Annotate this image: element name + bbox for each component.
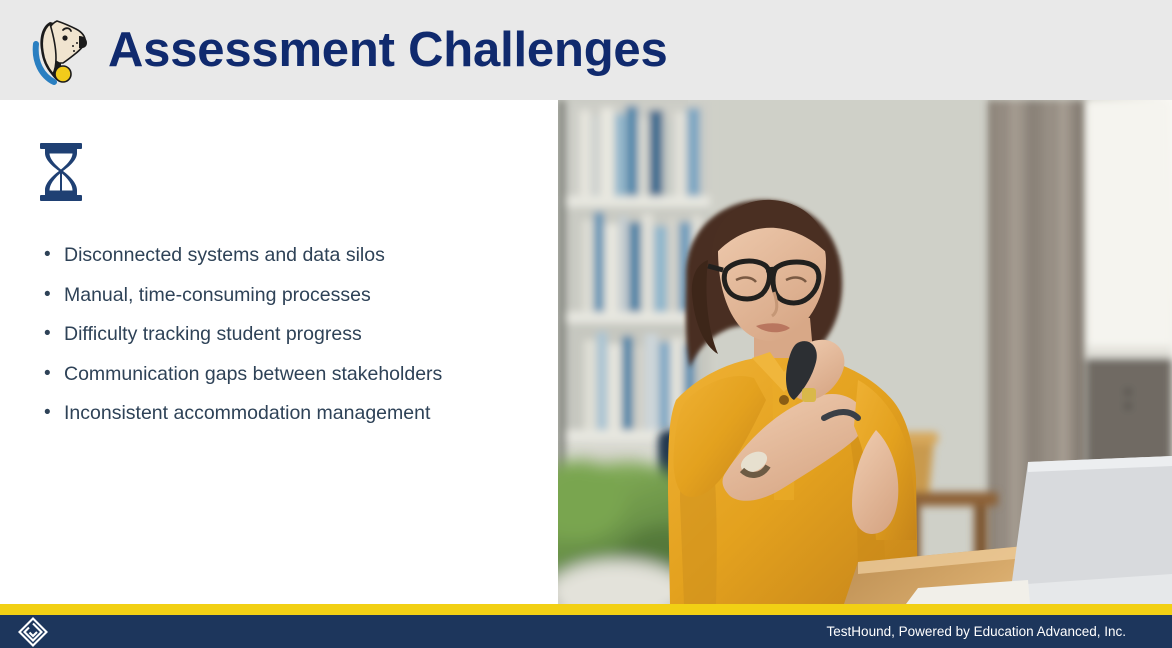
list-item: • Disconnected systems and data silos	[38, 242, 538, 282]
office-phone-call-photo	[558, 100, 1172, 604]
list-item-label: Difficulty tracking student progress	[64, 321, 538, 347]
list-item: • Inconsistent accommodation management	[38, 400, 538, 440]
content-panel: • Disconnected systems and data silos • …	[0, 100, 558, 604]
testhound-dog-logo	[30, 14, 92, 86]
bullet-marker: •	[38, 321, 64, 347]
footer-accent-stripe	[0, 604, 1172, 615]
list-item: • Difficulty tracking student progress	[38, 321, 538, 361]
list-item: • Manual, time-consuming processes	[38, 282, 538, 322]
slide-header: Assessment Challenges	[0, 0, 1172, 100]
bullet-marker: •	[38, 282, 64, 308]
list-item-label: Disconnected systems and data silos	[64, 242, 538, 268]
slide-photo	[558, 100, 1172, 604]
hourglass-icon	[38, 143, 84, 201]
education-advanced-diamond-logo	[18, 617, 48, 647]
slide-footer: TestHound, Powered by Education Advanced…	[0, 615, 1172, 648]
page-title: Assessment Challenges	[108, 26, 668, 75]
list-item: • Communication gaps between stakeholder…	[38, 361, 538, 401]
footer-attribution: TestHound, Powered by Education Advanced…	[827, 624, 1126, 639]
list-item-label: Manual, time-consuming processes	[64, 282, 538, 308]
presentation-slide: Assessment Challenges • Disconnected sys…	[0, 0, 1172, 648]
challenges-bullet-list: • Disconnected systems and data silos • …	[38, 242, 538, 440]
bullet-marker: •	[38, 361, 64, 387]
bullet-marker: •	[38, 400, 64, 426]
list-item-label: Inconsistent accommodation management	[64, 400, 538, 426]
list-item-label: Communication gaps between stakeholders	[64, 361, 538, 387]
bullet-marker: •	[38, 242, 64, 268]
